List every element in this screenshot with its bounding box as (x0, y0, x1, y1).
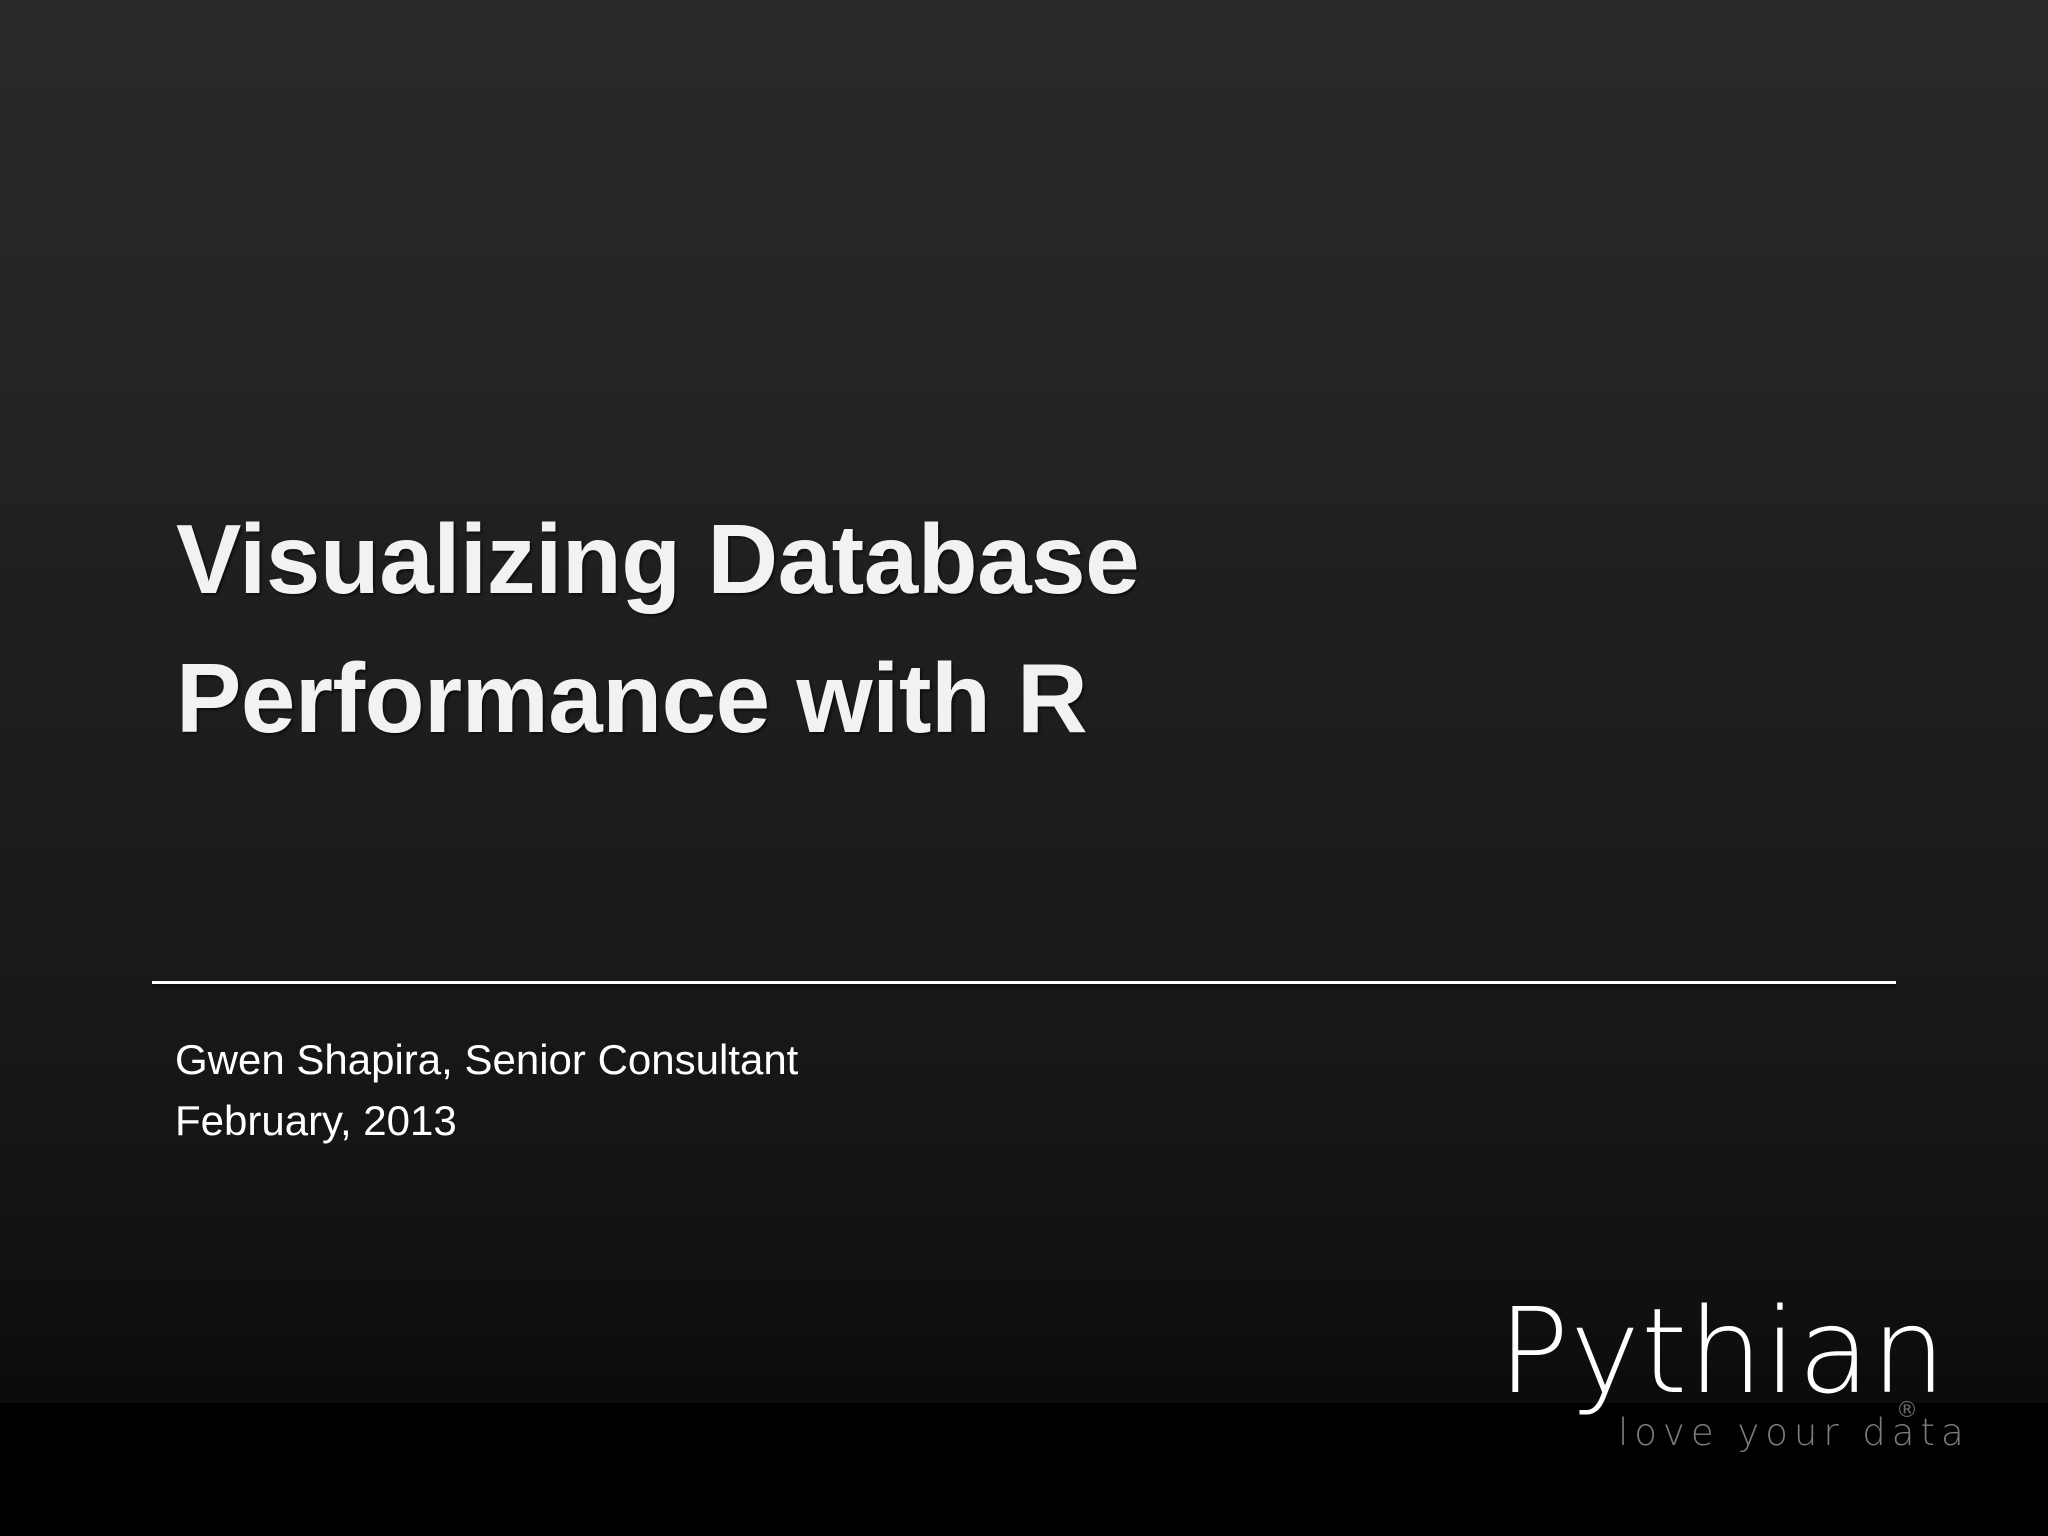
slide-title: Visualizing Database Performance with R (176, 490, 1676, 768)
background-band-2 (0, 260, 2048, 505)
pythian-logo: Pythian ® love your data (1498, 1292, 1968, 1462)
presenter-name: Gwen Shapira, Senior Consultant (175, 1030, 798, 1091)
background-band-1 (0, 0, 2048, 260)
pythian-tagline: love your data (1618, 1414, 1970, 1451)
title-divider-rule (152, 981, 1896, 984)
title-slide: Visualizing Database Performance with R … (0, 0, 2048, 1536)
presentation-date: February, 2013 (175, 1091, 798, 1152)
pythian-wordmark: Pythian (1498, 1292, 1947, 1410)
background-band-4 (0, 750, 2048, 995)
subtitle-block: Gwen Shapira, Senior Consultant February… (175, 1030, 798, 1152)
